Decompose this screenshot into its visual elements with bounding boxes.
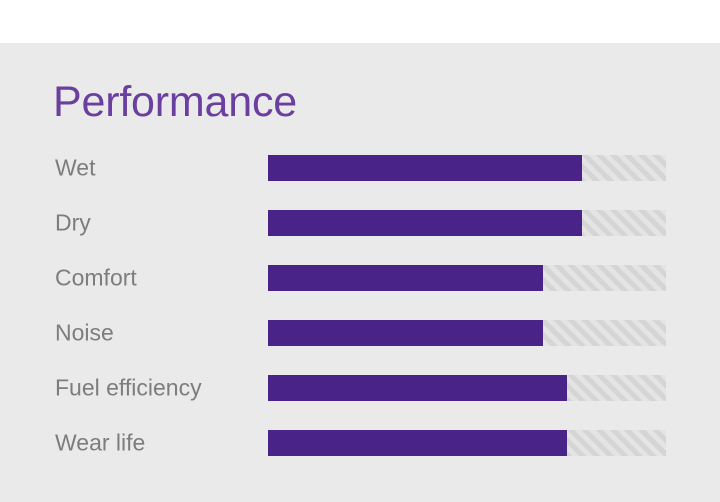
performance-label-fuel-efficiency: Fuel efficiency [55,377,202,400]
performance-row-dry: Dry [0,210,720,236]
performance-row-noise: Noise [0,320,720,346]
performance-label-dry: Dry [55,212,91,235]
performance-track-wear-life [268,430,666,456]
page-title: Performance [53,81,297,124]
performance-label-noise: Noise [55,322,114,345]
performance-row-wear-life: Wear life [0,430,720,456]
performance-fill-wear-life [268,430,567,456]
performance-label-wet: Wet [55,157,95,180]
top-white-band [0,0,720,43]
performance-fill-wet [268,155,582,181]
performance-track-fuel-efficiency [268,375,666,401]
performance-label-wear-life: Wear life [55,432,145,455]
performance-track-wet [268,155,666,181]
performance-fill-noise [268,320,543,346]
performance-fill-dry [268,210,582,236]
performance-row-wet: Wet [0,155,720,181]
performance-track-comfort [268,265,666,291]
performance-row-fuel-efficiency: Fuel efficiency [0,375,720,401]
performance-row-comfort: Comfort [0,265,720,291]
performance-track-dry [268,210,666,236]
performance-label-comfort: Comfort [55,267,137,290]
performance-panel: Performance Wet Dry Comfort [0,0,720,502]
performance-track-noise [268,320,666,346]
content-panel: Performance Wet Dry Comfort [0,43,720,502]
performance-fill-comfort [268,265,543,291]
performance-fill-fuel-efficiency [268,375,567,401]
